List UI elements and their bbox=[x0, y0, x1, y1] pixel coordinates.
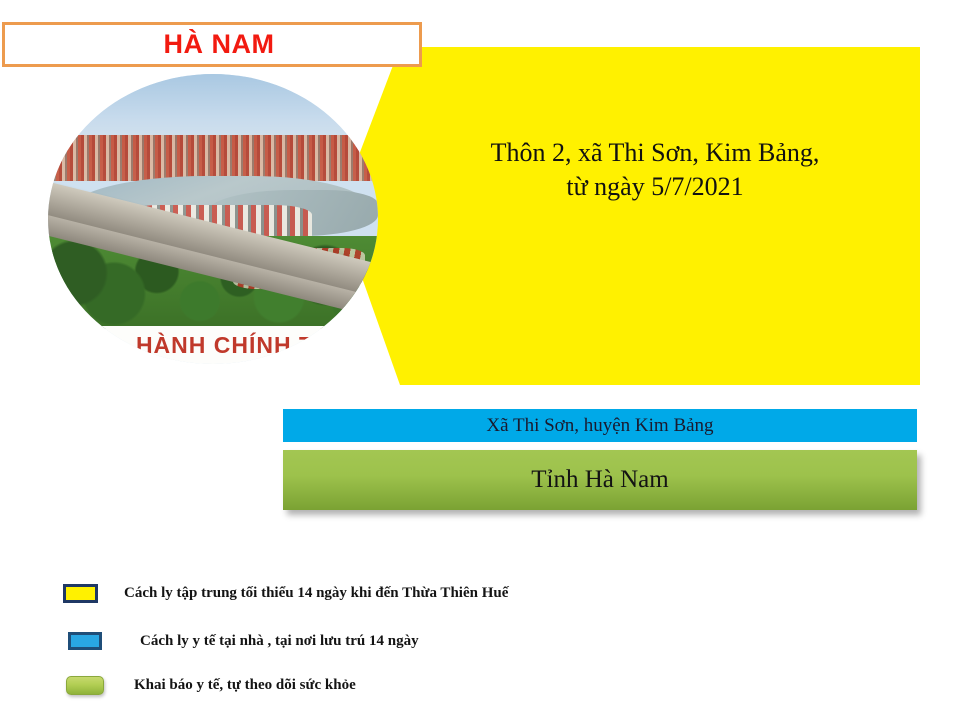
legend-item: Cách ly tập trung tối thiểu 14 ngày khi … bbox=[63, 584, 508, 603]
province-bar-label: Tỉnh Hà Nam bbox=[531, 466, 668, 494]
province-title-box: HÀ NAM bbox=[2, 22, 422, 67]
province-photo-circle: HÀNH CHÍNH T bbox=[48, 74, 378, 364]
callout-text: Thôn 2, xã Thi Sơn, Kim Bảng, từ ngày 5/… bbox=[420, 136, 890, 205]
legend-label: Khai báo y tế, tự theo dõi sức khỏe bbox=[134, 677, 356, 694]
yellow-callout-shape bbox=[338, 47, 920, 385]
legend-item: Cách ly y tế tại nhà , tại nơi lưu trú 1… bbox=[68, 632, 419, 650]
commune-bar-label: Xã Thi Sơn, huyện Kim Bảng bbox=[486, 415, 713, 437]
legend-label: Cách ly tập trung tối thiểu 14 ngày khi … bbox=[124, 585, 508, 602]
page-title: HÀ NAM bbox=[164, 29, 275, 60]
photo-distant-city bbox=[48, 135, 378, 181]
legend-swatch-blue bbox=[68, 632, 102, 650]
photo-image bbox=[48, 74, 378, 364]
province-bar[interactable]: Tỉnh Hà Nam bbox=[283, 450, 917, 510]
legend-swatch-yellow bbox=[63, 584, 98, 603]
photo-caption-banner: HÀNH CHÍNH T bbox=[48, 326, 378, 364]
legend-label: Cách ly y tế tại nhà , tại nơi lưu trú 1… bbox=[140, 633, 419, 650]
legend-item: Khai báo y tế, tự theo dõi sức khỏe bbox=[66, 676, 356, 695]
commune-bar[interactable]: Xã Thi Sơn, huyện Kim Bảng bbox=[283, 409, 917, 442]
photo-caption-text: HÀNH CHÍNH T bbox=[136, 332, 314, 359]
legend-swatch-green bbox=[66, 676, 104, 695]
